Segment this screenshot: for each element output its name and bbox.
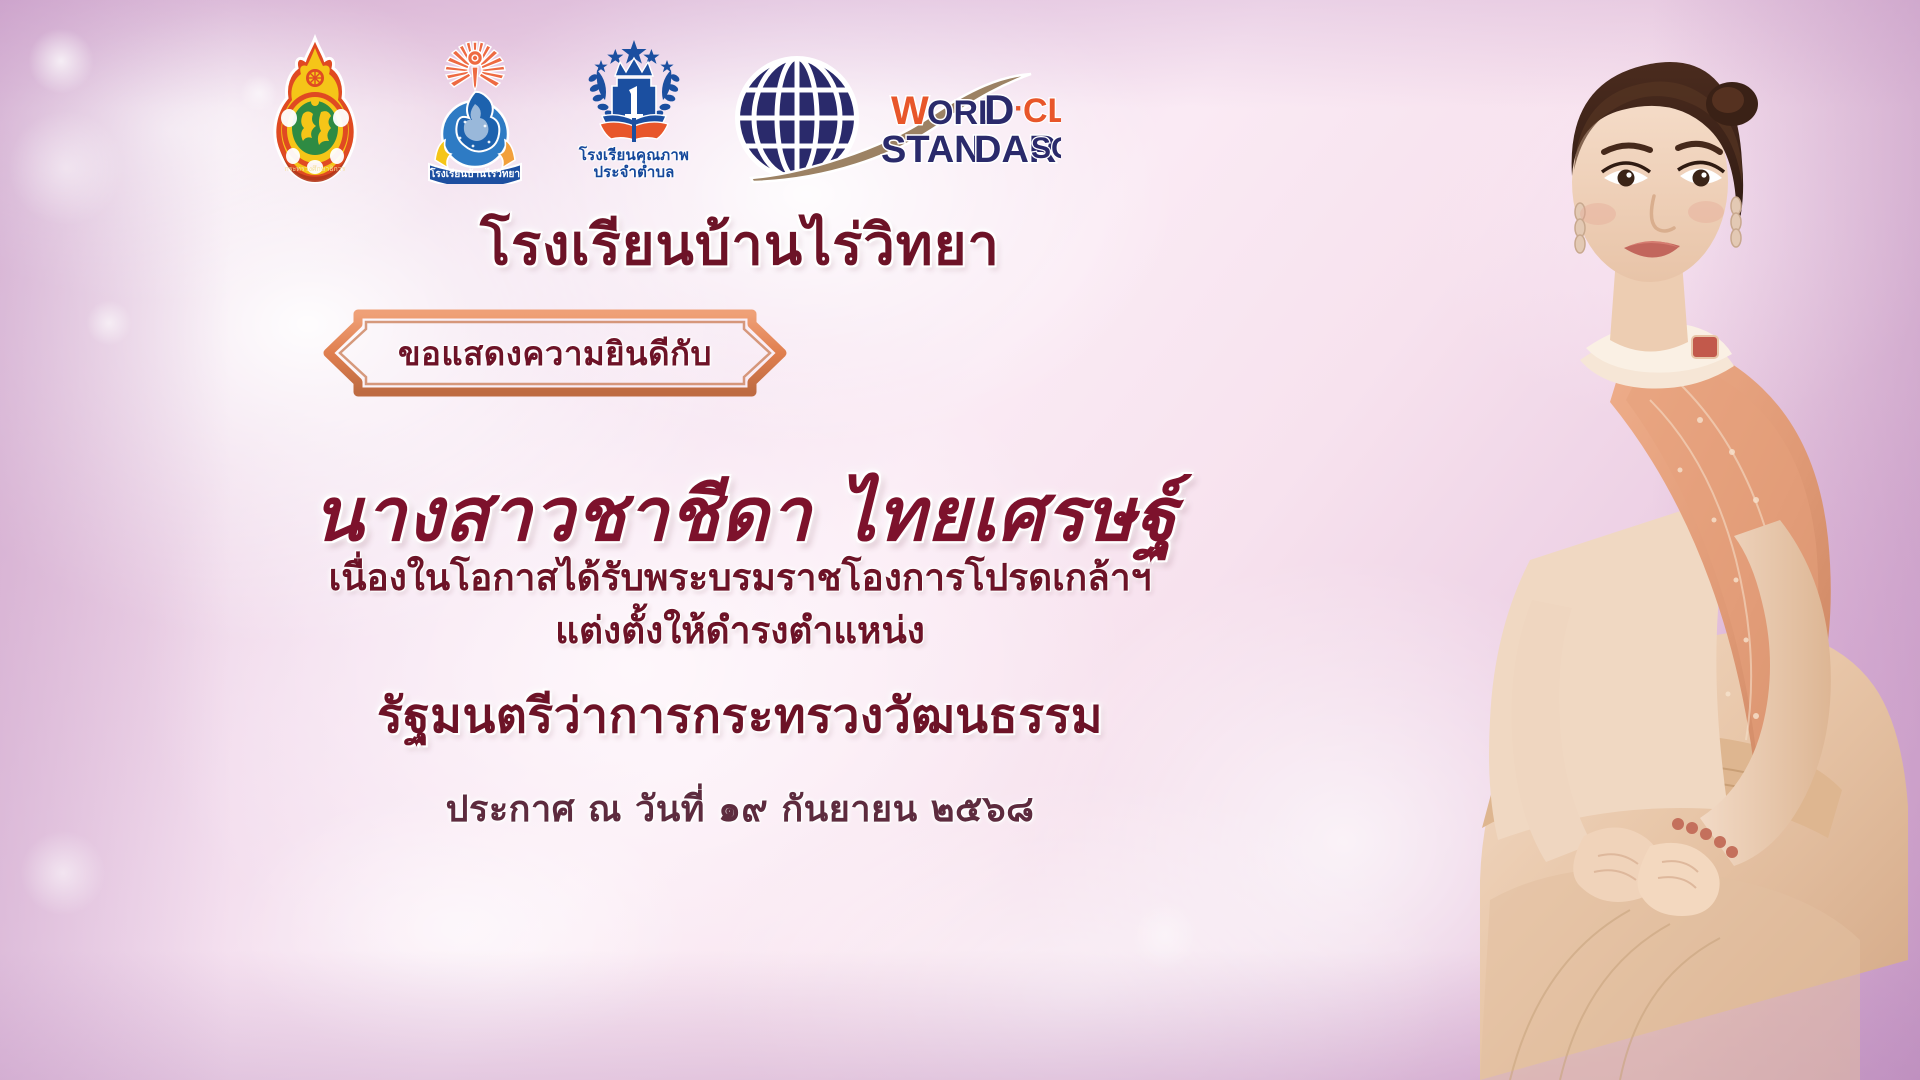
svg-text:กระทรวงศึกษาธิการ: กระทรวงศึกษาธิการ <box>285 164 346 173</box>
svg-text:โรงเรียนบ้านไร่วิทยา: โรงเรียนบ้านไร่วิทยา <box>429 167 520 180</box>
quality-school-emblem: โรงเรียนคุณภาพ ประจำตำบล <box>559 34 709 184</box>
svg-text:SCHOOL: SCHOOL <box>1031 132 1061 165</box>
svg-text:W: W <box>891 89 929 133</box>
honoree-portrait <box>1180 0 1920 1080</box>
svg-text:STAN: STAN <box>881 129 982 171</box>
banner-canvas: กระทรวงศึกษาธิการ <box>0 0 1920 1080</box>
world-class-standard-school-logo: W ORL STAN DAR D · CLASS SCHOOL <box>731 54 1061 184</box>
svg-text:D: D <box>984 86 1014 133</box>
congratulation-plaque: ขอแสดงความยินดีกับ <box>300 302 810 404</box>
school-emblem: โรงเรียนบ้านไร่วิทยา <box>415 34 535 184</box>
svg-text:CLASS: CLASS <box>1023 92 1061 130</box>
quality-school-caption: โรงเรียนคุณภาพ ประจำตำบล <box>559 148 709 182</box>
logo-row: กระทรวงศึกษาธิการ <box>255 34 1015 184</box>
ministry-education-emblem: กระทรวงศึกษาธิการ <box>263 34 367 184</box>
quality-caption-line-1: โรงเรียนคุณภาพ <box>559 148 709 165</box>
congratulation-text: ขอแสดงความยินดีกับ <box>300 302 810 404</box>
quality-caption-line-2: ประจำตำบล <box>559 165 709 182</box>
